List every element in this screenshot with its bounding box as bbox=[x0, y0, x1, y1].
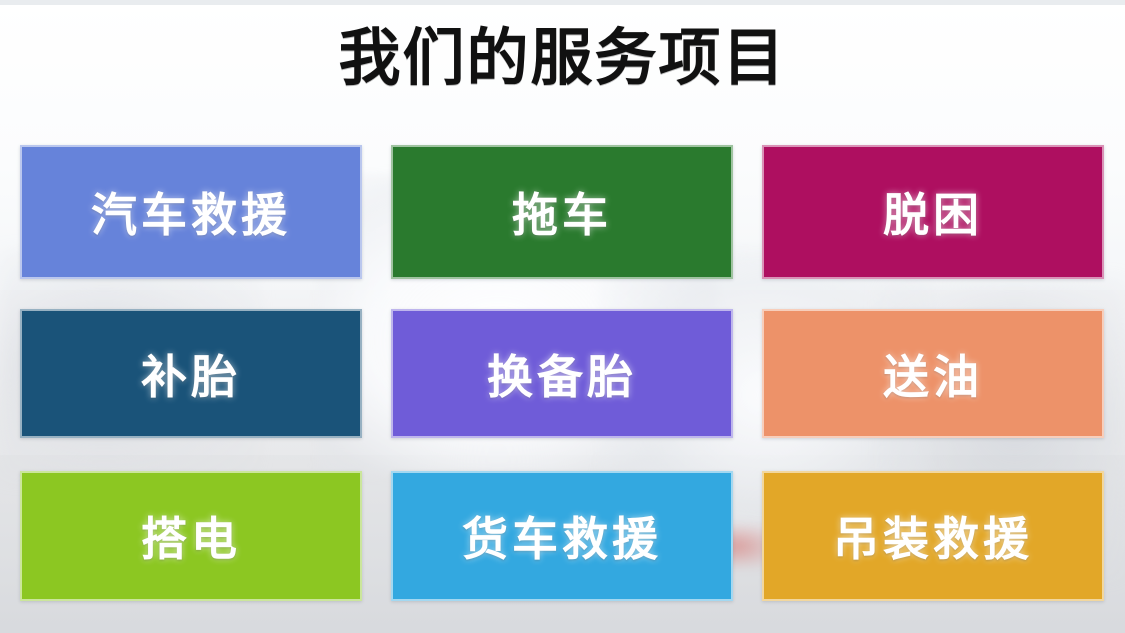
service-tile-truck-rescue[interactable]: 货车救援 bbox=[391, 471, 733, 601]
service-tile-label: 拖车 bbox=[512, 179, 612, 245]
service-tile-label: 脱困 bbox=[883, 179, 983, 245]
service-tile-label: 货车救援 bbox=[462, 503, 662, 569]
service-tile-fuel-delivery[interactable]: 送油 bbox=[762, 309, 1104, 438]
service-tile-label: 补胎 bbox=[141, 341, 241, 407]
service-tile-label: 吊装救援 bbox=[833, 503, 1033, 569]
service-tile-label: 送油 bbox=[883, 341, 983, 407]
service-tile-car-rescue[interactable]: 汽车救援 bbox=[20, 145, 362, 279]
service-tile-jump-start[interactable]: 搭电 bbox=[20, 471, 362, 601]
service-grid: 汽车救援 拖车 脱困 补胎 换备胎 送油 搭电 货车救援 吊装救援 bbox=[0, 0, 1125, 633]
service-tile-label: 换备胎 bbox=[487, 341, 637, 407]
service-tile-crane-rescue[interactable]: 吊装救援 bbox=[762, 471, 1104, 601]
service-tile-label: 搭电 bbox=[141, 503, 241, 569]
service-tile-label: 汽车救援 bbox=[91, 179, 291, 245]
service-tile-spare-tire-change[interactable]: 换备胎 bbox=[391, 309, 733, 438]
service-tile-tire-repair[interactable]: 补胎 bbox=[20, 309, 362, 438]
service-tile-towing[interactable]: 拖车 bbox=[391, 145, 733, 279]
service-tile-extrication[interactable]: 脱困 bbox=[762, 145, 1104, 279]
service-poster: 我们的服务项目 汽车救援 拖车 脱困 补胎 换备胎 送油 搭电 货车救援 吊装救… bbox=[0, 0, 1125, 633]
